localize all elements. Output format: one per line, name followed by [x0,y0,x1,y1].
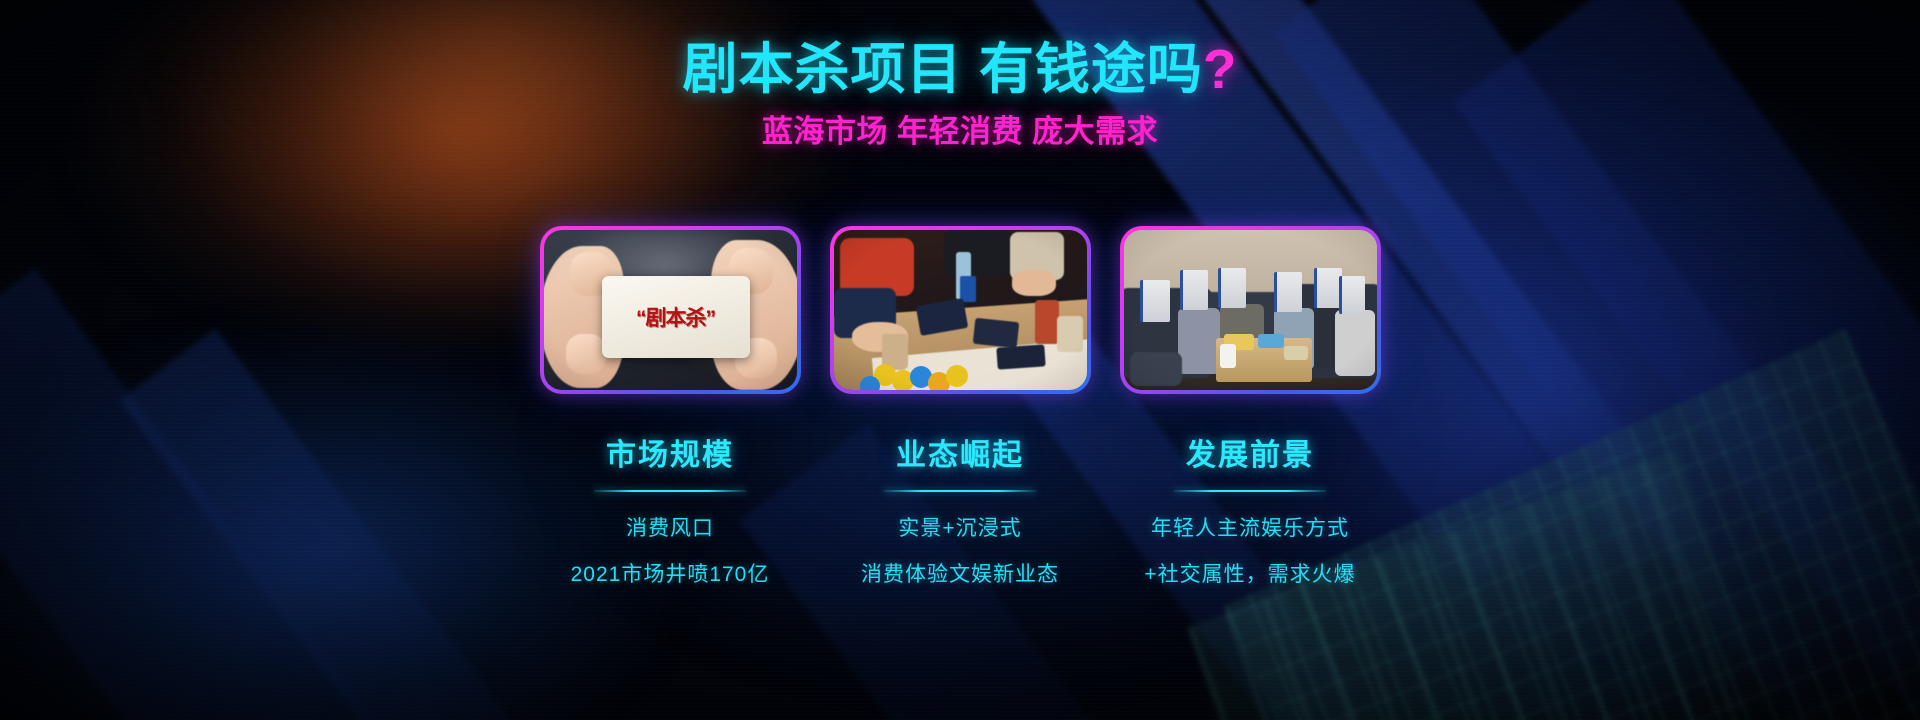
card-line-2: 消费体验文娱新业态 [830,558,1091,588]
players-around-table-photo [834,230,1087,390]
feature-card[interactable]: 发展前景 年轻人主流娱乐方式 +社交属性，需求火爆 [1120,226,1381,588]
headline-question-mark: ? [1203,38,1238,100]
card-title: 业态崛起 [830,430,1091,474]
snack-item [1284,346,1308,360]
headline-main-text: 剧本杀项目 有钱途吗 [683,38,1203,100]
game-token [946,365,968,387]
card-divider [1174,490,1326,492]
seated-person [1335,310,1375,376]
card-photo-caption: “剧本杀” [636,302,715,332]
seated-person [1178,308,1220,374]
game-token [860,376,880,390]
card-title: 市场规模 [540,430,801,474]
thumbnail-frame[interactable] [830,226,1091,394]
group-reading-scripts-photo [1124,230,1377,390]
finger-shape [566,334,606,374]
card-line-1: 实景+沉浸式 [830,512,1091,542]
person-dark [944,230,1010,276]
game-cards [972,318,1018,348]
card-line-1: 消费风口 [540,512,801,542]
thumbnail-frame[interactable]: “剧本杀” [540,226,801,394]
page-title: 剧本杀项目 有钱途吗? [0,24,1920,104]
drink-cup [1057,316,1083,352]
script-booklet [1180,270,1208,310]
script-booklet [1339,276,1365,314]
feature-card[interactable]: “剧本杀” 市场规模 消费风口 2021市场井喷170亿 [540,226,801,588]
script-booklet [1140,280,1170,322]
card-divider [594,490,746,492]
card-line-1: 年轻人主流娱乐方式 [1120,512,1381,542]
card-line-2: +社交属性，需求火爆 [1120,558,1381,588]
card-line-2: 2021市场井喷170亿 [540,558,801,588]
script-booklet [1314,268,1342,308]
page-subtitle: 蓝海市场 年轻消费 庞大需求 [0,106,1920,151]
hands-holding-script-card-photo: “剧本杀” [544,230,797,390]
snack-item [1258,334,1284,348]
game-cards [996,344,1045,369]
feature-card-row: “剧本杀” 市场规模 消费风口 2021市场井喷170亿 [0,226,1920,588]
hand-shape [1012,270,1056,296]
thumbnail-frame[interactable] [1120,226,1381,394]
script-booklet [1274,272,1302,312]
script-booklet [1218,268,1246,308]
drink-cup [1220,344,1236,368]
card-divider [884,490,1036,492]
drink-cup [1035,300,1059,344]
white-card-prop: “剧本杀” [602,276,750,358]
floor-pillow [1130,352,1182,386]
feature-card[interactable]: 业态崛起 实景+沉浸式 消费体验文娱新业态 [830,226,1091,588]
card-title: 发展前景 [1120,430,1381,474]
